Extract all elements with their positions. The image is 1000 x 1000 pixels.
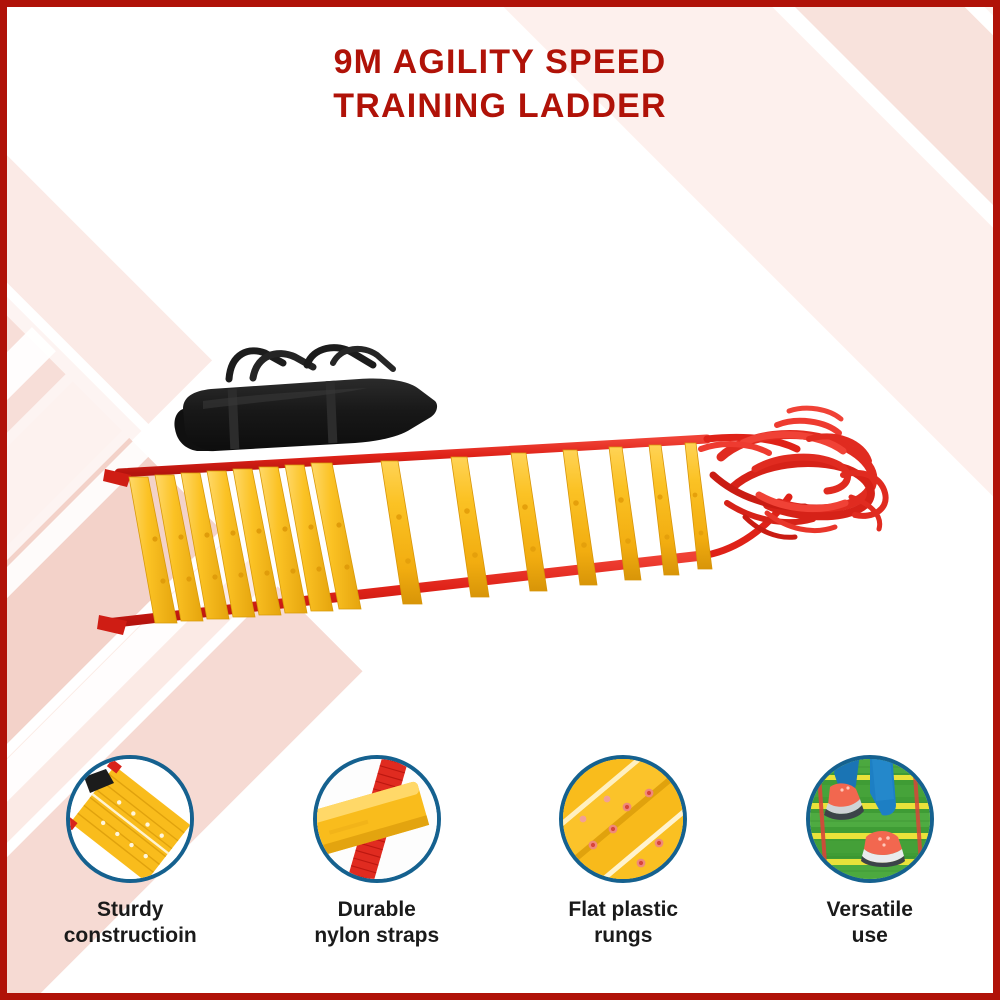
feature-label-line-1: Sturdy bbox=[64, 897, 197, 923]
ladder-spaced-rungs bbox=[381, 443, 712, 604]
rung bbox=[649, 445, 679, 575]
feature-item-sturdy-construction: Sturdy constructioin bbox=[7, 755, 254, 970]
rung bbox=[511, 453, 547, 591]
title-line-2: Training Ladder bbox=[7, 85, 993, 129]
feature-label: Durable nylon straps bbox=[314, 897, 439, 948]
rung-on-nylon-strap-icon bbox=[313, 755, 441, 883]
feature-label-line-2: use bbox=[827, 923, 913, 949]
feature-label-line-1: Versatile bbox=[827, 897, 913, 923]
feature-item-durable-nylon-straps: Durable nylon straps bbox=[254, 755, 501, 970]
product-image-stage: 9M Agility Speed Training Ladder bbox=[7, 7, 993, 993]
feature-label-line-2: nylon straps bbox=[314, 923, 439, 949]
feature-label-line-2: constructioin bbox=[64, 923, 197, 949]
rung bbox=[685, 443, 712, 569]
page-title: 9M Agility Speed Training Ladder bbox=[7, 41, 993, 128]
rung bbox=[381, 461, 422, 604]
carry-bag bbox=[174, 348, 437, 451]
feature-item-flat-plastic-rungs: Flat plastic rungs bbox=[500, 755, 747, 970]
strap-bundle bbox=[701, 408, 886, 537]
ladder-rungs-angled-icon bbox=[66, 755, 194, 883]
rung bbox=[563, 450, 597, 585]
athlete-on-grass-icon bbox=[806, 755, 934, 883]
feature-label-line-1: Durable bbox=[314, 897, 439, 923]
product-image-canvas: 9M Agility Speed Training Ladder bbox=[0, 0, 1000, 1000]
feature-label: Sturdy constructioin bbox=[64, 897, 197, 948]
feature-label: Versatile use bbox=[827, 897, 913, 948]
rung bbox=[609, 447, 641, 580]
feature-list: Sturdy constructioin bbox=[7, 755, 993, 970]
feature-item-versatile-use: Versatile use bbox=[747, 755, 994, 970]
feature-label-line-2: rungs bbox=[568, 923, 678, 949]
ladder-stacked-rungs bbox=[129, 463, 361, 623]
rung bbox=[451, 457, 489, 597]
feature-label-line-1: Flat plastic bbox=[568, 897, 678, 923]
flat-plastic-rungs-closeup-icon bbox=[559, 755, 687, 883]
agility-ladder-illustration bbox=[7, 157, 993, 717]
feature-label: Flat plastic rungs bbox=[568, 897, 678, 948]
hero-product-image bbox=[7, 157, 993, 717]
title-line-1: 9M Agility Speed bbox=[7, 41, 993, 85]
